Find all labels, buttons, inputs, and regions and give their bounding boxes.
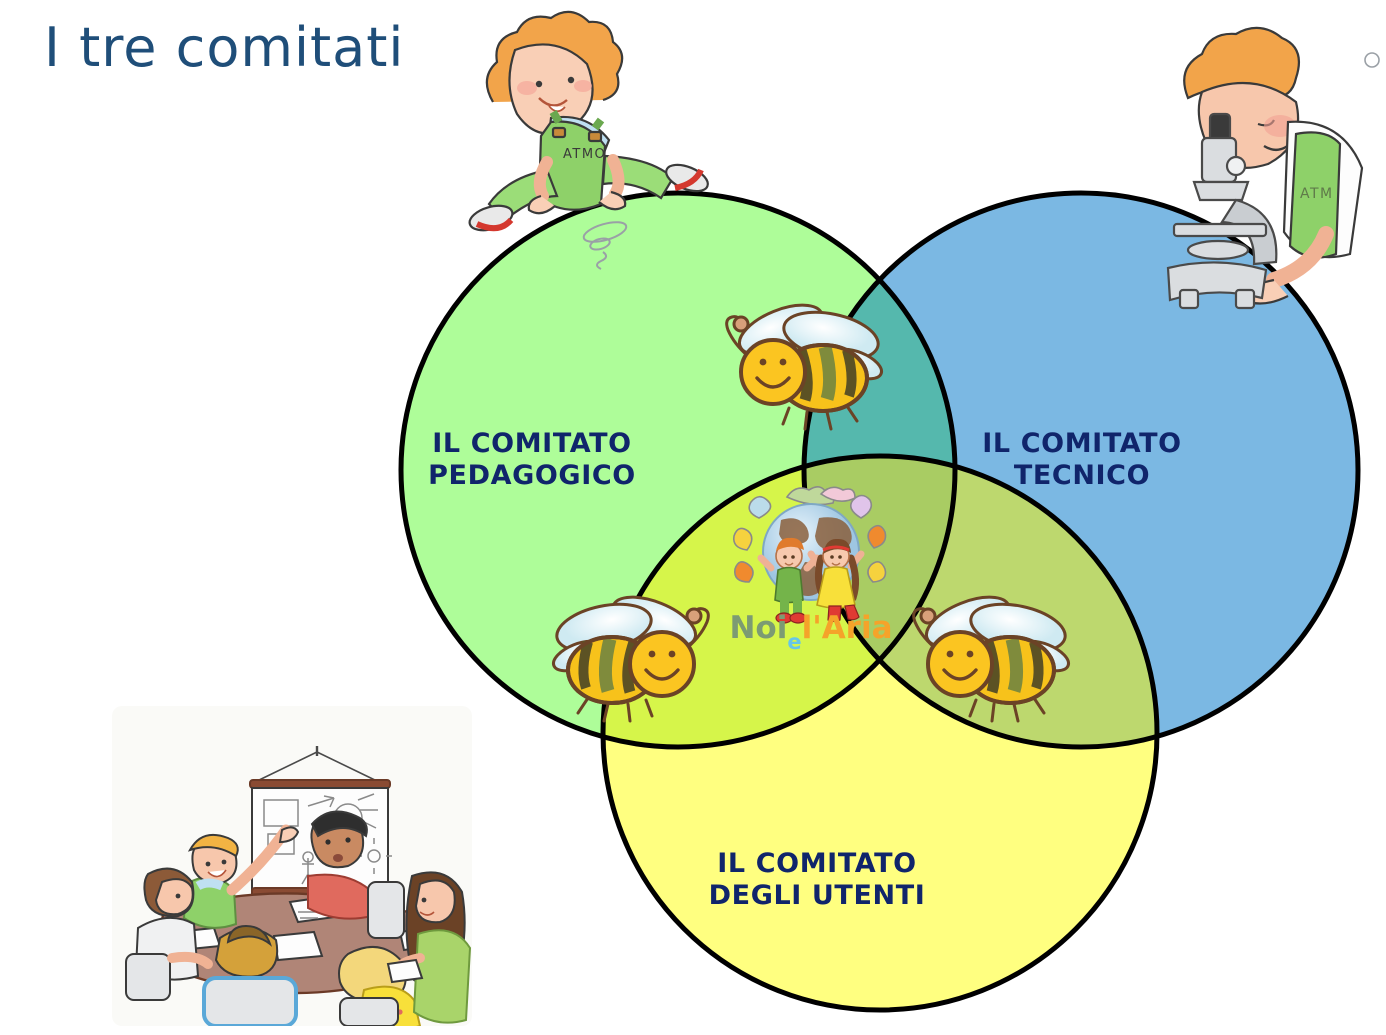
venn-label-tecnico: IL COMITATO TECNICO [948,428,1216,492]
venn-label-pedagogico: IL COMITATO PEDAGOGICO [392,428,672,492]
slide-canvas: I tre comitati [0,0,1386,1035]
logo-wordmark: Noiel'Aria [726,610,896,658]
svg-text:ATM: ATM [1300,186,1334,202]
illustration-classroom-meeting [112,706,472,1026]
logo-word-noi: Noi [729,610,787,646]
logo-word-e: e [787,630,801,654]
noi-e-laria-logo: Noiel'Aria [726,482,896,662]
svg-text:ATMO: ATMO [563,147,606,162]
venn-label-utenti: IL COMITATO DEGLI UTENTI [672,848,962,912]
logo-word-aria: l'Aria [802,610,893,646]
illustration-child-sitting: ATMO [455,10,755,260]
illustration-child-microscope: ATM [1140,18,1386,318]
